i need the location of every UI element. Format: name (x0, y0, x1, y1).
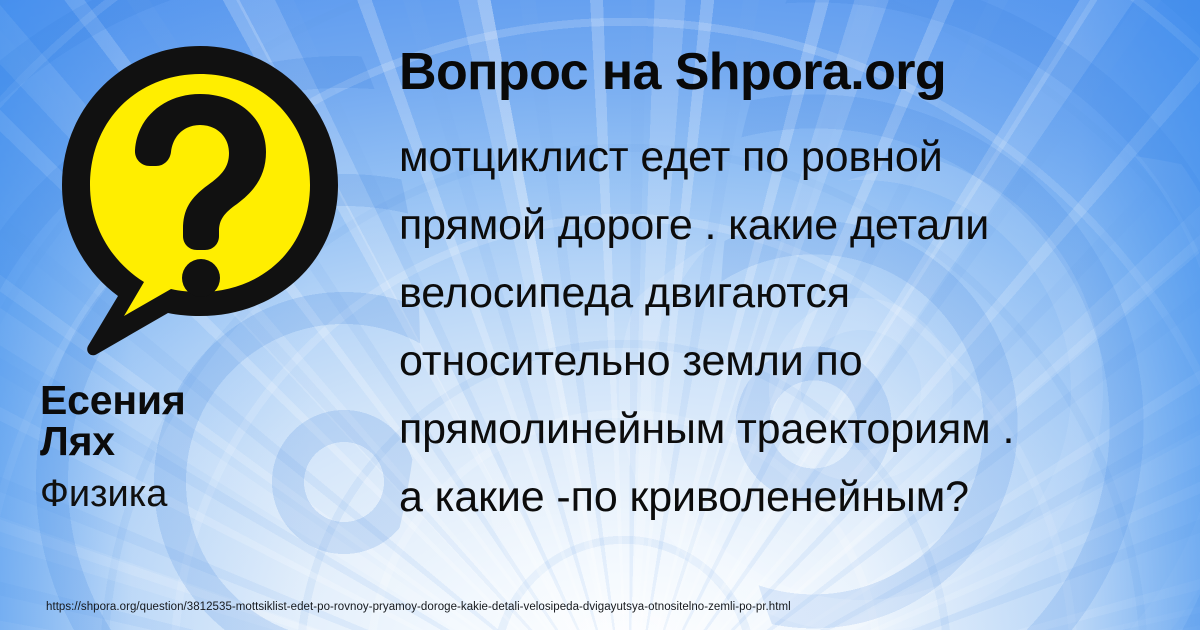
question-panel: Вопрос на Shpora.org мотциклист едет по … (399, 45, 1189, 531)
question-line: прямолинейным траекториям . (399, 395, 1189, 463)
question-line: относительно земли по (399, 327, 1189, 395)
source-url-bar: https://shpora.org/question/3812535-mott… (0, 586, 1200, 630)
page-title: Вопрос на Shpora.org (399, 45, 1189, 99)
question-card: Есения Лях Физика Вопрос на Shpora.org м… (0, 0, 1200, 630)
source-url[interactable]: https://shpora.org/question/3812535-mott… (46, 602, 791, 614)
question-line: велосипеда двигаются (399, 259, 1189, 327)
subject-label: Физика (40, 475, 370, 513)
question-text: мотциклист едет по ровной прямой дороге … (399, 123, 1189, 531)
author-panel: Есения Лях Физика (40, 28, 370, 513)
question-line: мотциклист едет по ровной (399, 123, 1189, 191)
author-name-line-1: Есения (40, 377, 186, 423)
card-content: Есения Лях Физика Вопрос на Shpora.org м… (0, 0, 1200, 630)
question-line: прямой дороге . какие детали (399, 191, 1189, 259)
author-name-line-2: Лях (40, 418, 115, 464)
author-name: Есения Лях (40, 380, 300, 461)
question-speech-bubble-icon (40, 28, 358, 358)
question-line: а какие -по криволенейным? (399, 463, 1189, 531)
